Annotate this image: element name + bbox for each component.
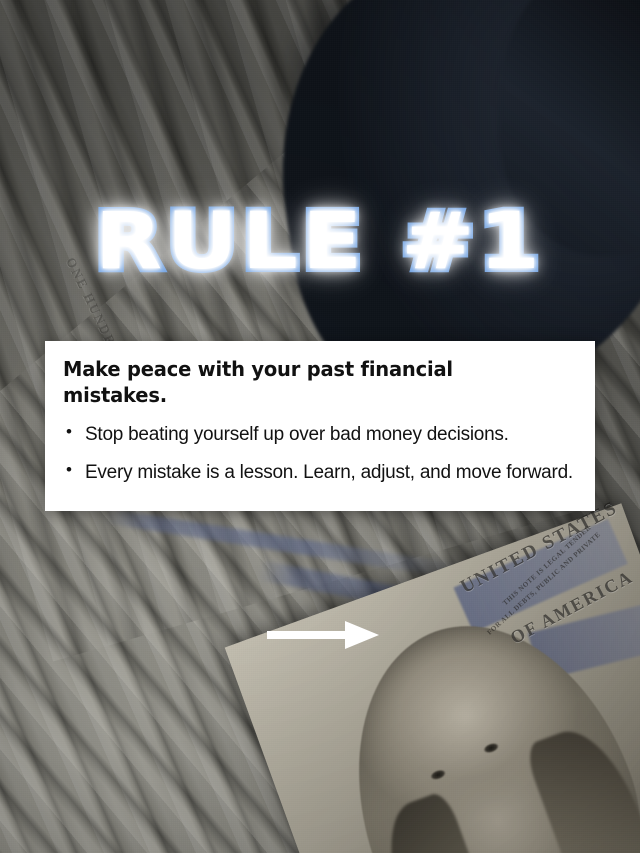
- list-item: Every mistake is a lesson. Learn, adjust…: [63, 460, 575, 485]
- slide-canvas: THIS NOTE IS LEGAL TENDER FOR ALL DEBTS,…: [0, 0, 640, 853]
- list-item: Stop beating yourself up over bad money …: [63, 422, 575, 447]
- content-card: Make peace with your past financial mist…: [45, 341, 595, 511]
- card-heading: Make peace with your past financial mist…: [63, 357, 549, 408]
- right-arrow-icon: [267, 620, 379, 650]
- bullet-list: Stop beating yourself up over bad money …: [63, 422, 575, 485]
